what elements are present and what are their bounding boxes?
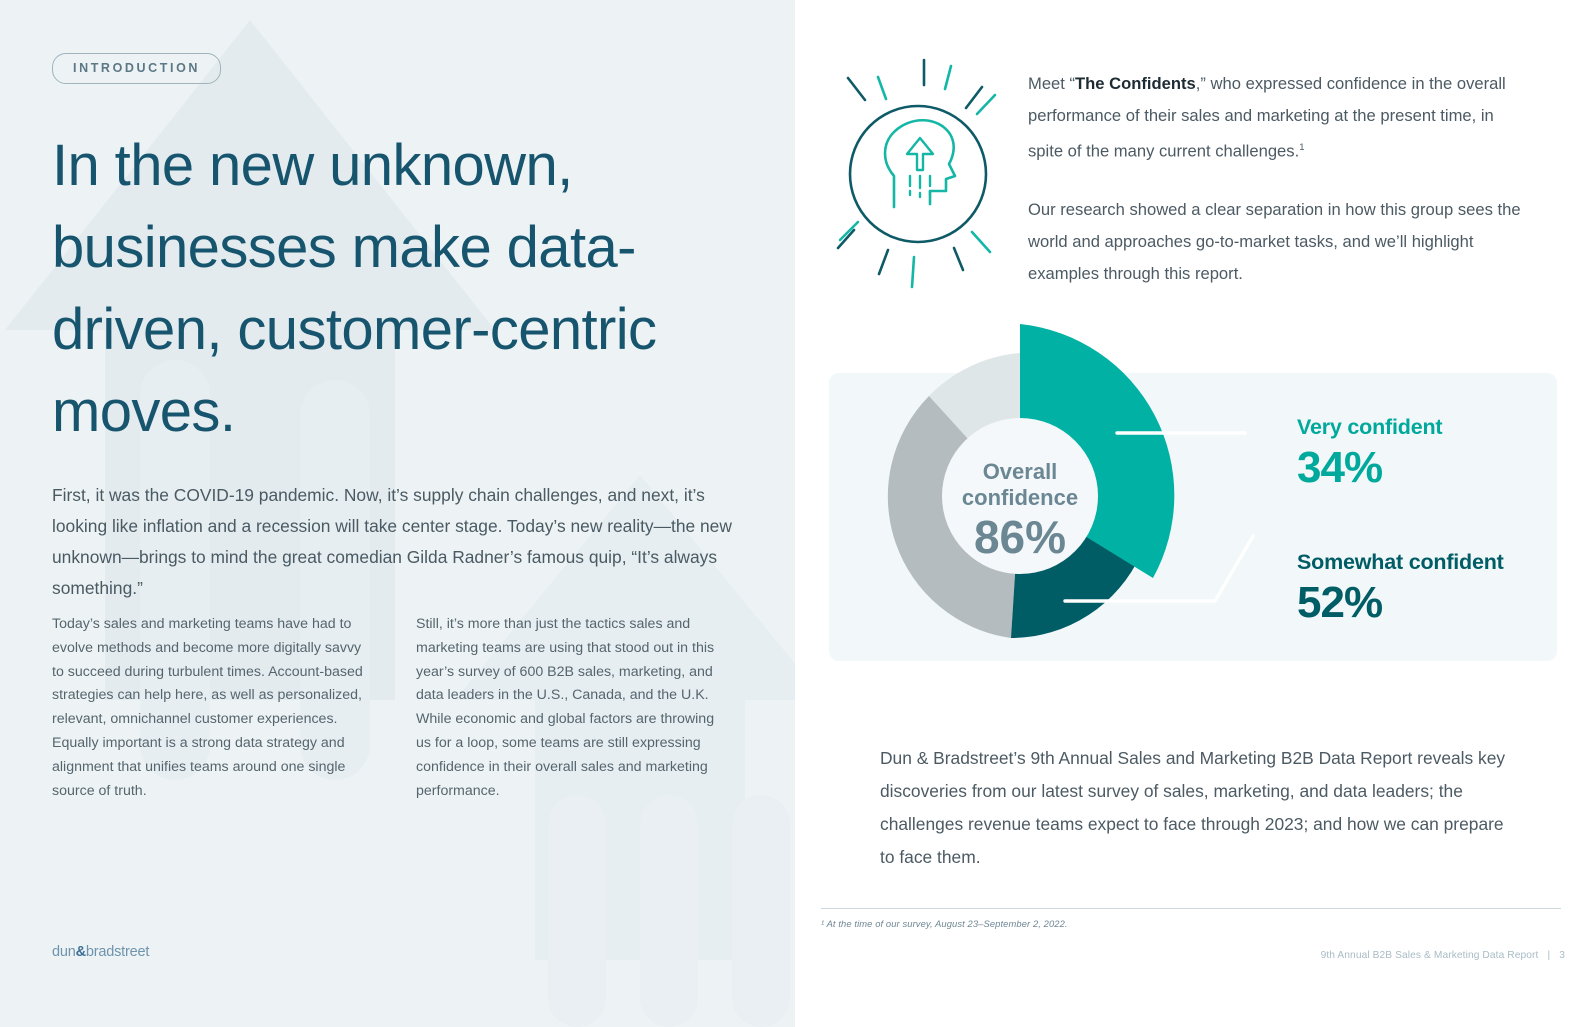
donut-center-value: 86% xyxy=(974,511,1066,563)
confidents-prefix: Meet “ xyxy=(1028,74,1075,93)
legend-somewhat-confident-label: Somewhat confident xyxy=(1297,550,1504,575)
confidents-description: Meet “The Confidents,” who expressed con… xyxy=(1028,68,1528,290)
body-column-left: Today’s sales and marketing teams have h… xyxy=(52,613,368,803)
legend-very-confident-label: Very confident xyxy=(1297,415,1442,440)
left-page: INTRODUCTION In the new unknown, busines… xyxy=(0,0,795,1027)
page-footer-title: 9th Annual B2B Sales & Marketing Data Re… xyxy=(1321,950,1539,961)
right-page: Meet “The Confidents,” who expressed con… xyxy=(795,0,1587,1027)
legend-somewhat-confident-value: 52% xyxy=(1297,577,1504,629)
lead-paragraph: First, it was the COVID-19 pandemic. Now… xyxy=(52,480,742,604)
page-number: 3 xyxy=(1559,950,1565,961)
overall-confidence-chart: Overall confidence 86% Very confident 34… xyxy=(795,296,1587,704)
logo-text-bradstreet: bradstreet xyxy=(86,944,149,960)
footnote-marker: 1 xyxy=(1299,142,1304,153)
two-column-text: Today’s sales and marketing teams have h… xyxy=(52,613,732,803)
donut-center-label-line2: confidence xyxy=(962,485,1078,510)
logo-text-dun: dun xyxy=(52,944,76,960)
legend-somewhat-confident: Somewhat confident 52% xyxy=(1297,550,1504,629)
page-title: In the new unknown, businesses make data… xyxy=(52,125,762,453)
legend-very-confident: Very confident 34% xyxy=(1297,415,1442,494)
confidents-paragraph-1: Meet “The Confidents,” who expressed con… xyxy=(1028,68,1528,168)
confidents-paragraph-2: Our research showed a clear separation i… xyxy=(1028,194,1528,290)
logo-ampersand: & xyxy=(76,944,86,960)
introduction-badge: INTRODUCTION xyxy=(52,53,221,84)
footnote-divider xyxy=(821,908,1561,909)
dun-bradstreet-logo: dun&bradstreet xyxy=(52,944,149,960)
page-footer: 9th Annual B2B Sales & Marketing Data Re… xyxy=(1321,950,1565,961)
page-footer-separator: | xyxy=(1547,950,1550,961)
head-with-upward-arrow-sun-icon xyxy=(820,52,1015,297)
closing-paragraph: Dun & Bradstreet’s 9th Annual Sales and … xyxy=(880,742,1520,874)
confidence-donut-chart: Overall confidence 86% xyxy=(835,296,1255,696)
footnote-text: ¹ At the time of our survey, August 23–S… xyxy=(821,918,1521,929)
confidents-term: The Confidents xyxy=(1075,74,1196,93)
body-column-right: Still, it’s more than just the tactics s… xyxy=(416,613,732,803)
legend-very-confident-value: 34% xyxy=(1297,442,1442,494)
donut-center-label-line1: Overall xyxy=(983,459,1058,484)
